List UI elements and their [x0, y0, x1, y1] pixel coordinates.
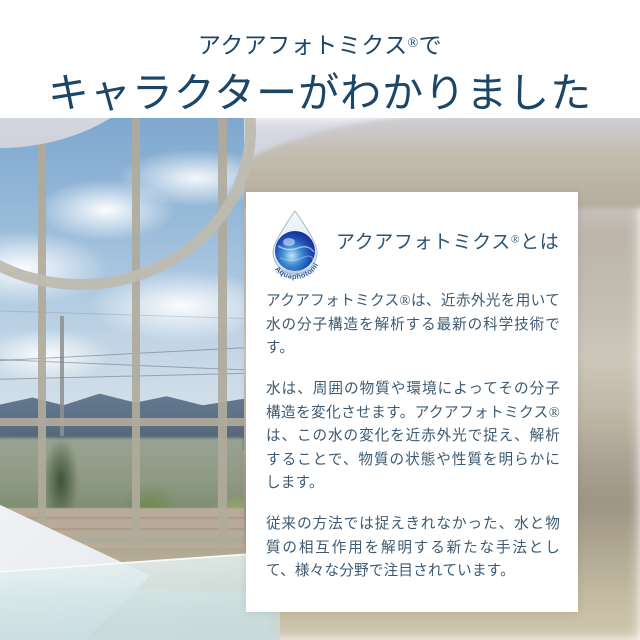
card-header: Aquaphotomics アクアフォトミクス®とは [246, 192, 578, 284]
registered-mark: ® [408, 35, 419, 50]
headline-line-1: アクアフォトミクス®で [0, 0, 640, 57]
headline-line-1-pre: アクアフォトミクス [198, 33, 408, 58]
card-body: アクアフォトミクス®は、近赤外光を用いて水の分子構造を解析する最新の科学技術です… [246, 284, 578, 584]
headline-line-2: キャラクターがわかりました [0, 57, 640, 114]
paragraph-1: アクアフォトミクス®は、近赤外光を用いて水の分子構造を解析する最新の科学技術です… [266, 290, 560, 361]
card-title-post: とは [520, 232, 559, 253]
page-root: アクアフォトミクス®で キャラクターがわかりました [0, 0, 640, 640]
headline-line-1-post: で [419, 33, 443, 58]
paragraph-3: 従来の方法では捉えきれなかった、水と物質の相互作用を解明する新たな手法として、様… [266, 513, 560, 584]
card-title: アクアフォトミクス®とは [336, 227, 559, 254]
card-title-pre: アクアフォトミクス [336, 232, 511, 253]
info-card: Aquaphotomics アクアフォトミクス®とは アクアフォトミクス®は、近… [246, 192, 578, 612]
paragraph-2: 水は、周囲の物質や環境によってその分子構造を変化させます。アクアフォトミクス®は… [266, 378, 560, 496]
registered-mark: ® [511, 233, 520, 245]
window-mullion [0, 418, 244, 426]
page-title: アクアフォトミクス®で キャラクターがわかりました [0, 0, 640, 114]
water-droplet-icon: Aquaphotomics [264, 206, 326, 284]
